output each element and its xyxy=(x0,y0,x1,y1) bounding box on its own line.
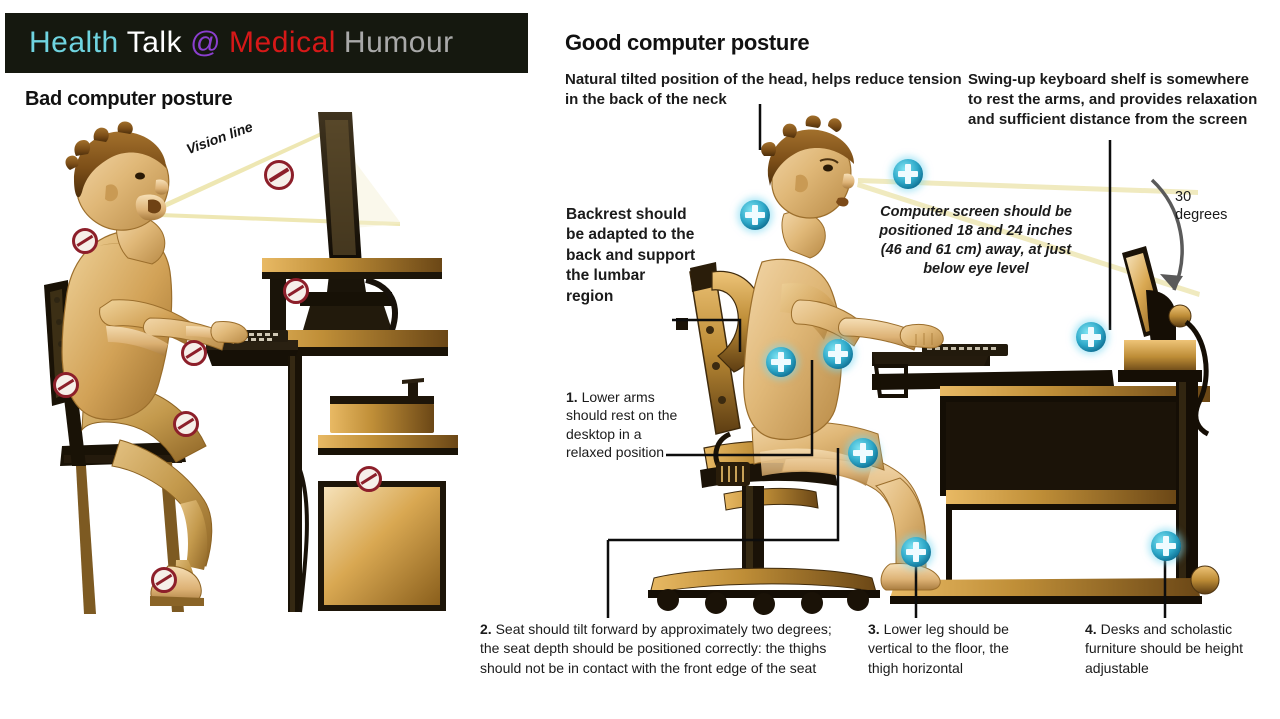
no-icon-thigh xyxy=(173,411,199,437)
plus-icon-lower-arms xyxy=(823,339,853,369)
no-icon-wrist xyxy=(181,340,207,366)
callout-degrees: 30 degrees xyxy=(1175,188,1255,224)
no-icon-desk-height xyxy=(283,278,309,304)
numbered-1-text: Lower arms should rest on the desktop in… xyxy=(566,389,677,460)
callout-numbered-2: 2. Seat should tilt forward by approxima… xyxy=(480,620,835,678)
callout-head-text: Natural tilted position of the head, hel… xyxy=(565,70,965,110)
plus-icon-seat-tilt xyxy=(848,438,878,468)
numbered-2-text: Seat should tilt forward by approximatel… xyxy=(480,621,832,676)
callout-shelf-text: Swing-up keyboard shelf is somewhere to … xyxy=(968,70,1260,129)
numbered-3-num: 3. xyxy=(868,621,880,637)
numbered-4-num: 4. xyxy=(1085,621,1097,637)
infographic-page: Health.Talk.@.Medical.Humour Bad compute… xyxy=(0,0,1280,719)
plus-icon-backrest-lumbar xyxy=(766,347,796,377)
plus-icon-desk-height xyxy=(1151,531,1181,561)
no-icon-monitor-height xyxy=(264,160,294,190)
plus-icon-eye-level xyxy=(893,159,923,189)
numbered-3-text: Lower leg should be vertical to the floo… xyxy=(868,621,1009,676)
bad-desk-group xyxy=(206,112,458,612)
no-icon-feet xyxy=(151,567,177,593)
callout-screen-text: Computer screen should be positioned 18 … xyxy=(868,203,1084,280)
numbered-1-num: 1. xyxy=(566,389,578,405)
numbered-4-text: Desks and scholastic furniture should be… xyxy=(1085,621,1243,676)
no-icon-cpu-box xyxy=(356,466,382,492)
numbered-2-num: 2. xyxy=(480,621,492,637)
callout-numbered-3: 3. Lower leg should be vertical to the f… xyxy=(868,620,1018,678)
degrees-unit: degrees xyxy=(1175,207,1227,223)
callout-backrest-text: Backrest should be adapted to the back a… xyxy=(566,205,696,307)
callout-numbered-1: 1. Lower arms should rest on the desktop… xyxy=(566,388,686,462)
no-icon-neck xyxy=(72,228,98,254)
plus-icon-lower-leg xyxy=(901,537,931,567)
no-icon-lumbar xyxy=(53,372,79,398)
plus-icon-neck-head xyxy=(740,200,770,230)
plus-icon-keyboard-shelf xyxy=(1076,322,1106,352)
callout-numbered-4: 4. Desks and scholastic furniture should… xyxy=(1085,620,1260,678)
degrees-value: 30 xyxy=(1175,189,1191,205)
